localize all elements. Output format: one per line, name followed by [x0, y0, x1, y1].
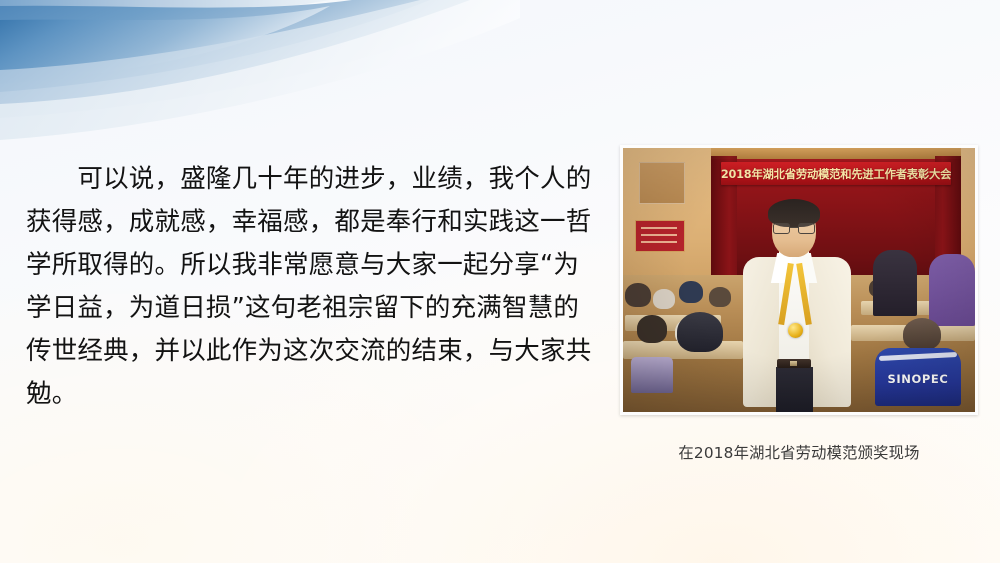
award-ceremony-photograph: 2018年湖北省劳动模范和先进工作者表彰大会 — [623, 148, 975, 412]
stage-valance — [711, 148, 961, 159]
body-paragraph: 可以说，盛隆几十年的进步，业绩，我个人的 获得感，成就感，幸福感，都是奉行和实践… — [26, 158, 594, 416]
ceremony-banner-text: 2018年湖北省劳动模范和先进工作者表彰大会 — [721, 166, 951, 182]
trousers — [776, 367, 813, 412]
belt-buckle — [790, 361, 797, 366]
gold-medal — [788, 323, 803, 338]
audience-head — [679, 281, 703, 303]
paragraph-line: 获得感，成就感，幸福感，都是奉行和实践这一哲 — [26, 201, 594, 244]
photo-block: 2018年湖北省劳动模范和先进工作者表彰大会 — [620, 145, 978, 415]
audience-head — [637, 315, 667, 343]
photo-caption: 在2018年湖北省劳动模范颁奖现场 — [620, 441, 978, 463]
attendee-back-head — [903, 318, 941, 350]
wall-sign — [635, 220, 685, 252]
sinopec-jacket: SINOPEC — [875, 348, 961, 406]
audience-head — [625, 283, 651, 307]
blue-ribbon-wave-icon — [0, 0, 520, 160]
paragraph-line: 传世经典，并以此作为这次交流的结束，与大家共 — [26, 330, 594, 373]
audience-head — [709, 287, 731, 307]
paragraph-line: 学日益，为道日损”这句老祖宗留下的充满智慧的 — [26, 287, 594, 330]
paragraph-line: 勉。 — [26, 373, 594, 416]
ceremony-banner: 2018年湖北省劳动模范和先进工作者表彰大会 — [721, 162, 951, 185]
sinopec-logo-text: SINOPEC — [875, 372, 961, 386]
audience-chair — [631, 357, 673, 393]
wall-panel — [639, 162, 685, 204]
attendee-purple-shirt — [929, 254, 975, 326]
slide-canvas: 可以说，盛隆几十年的进步，业绩，我个人的 获得感，成就感，幸福感，都是奉行和实践… — [0, 0, 1000, 563]
eyeglasses-icon — [773, 223, 815, 234]
sinopec-stripe — [879, 352, 957, 361]
paragraph-line: 学所取得的。所以我非常愿意与大家一起分享“为 — [26, 244, 594, 287]
photo-frame: 2018年湖北省劳动模范和先进工作者表彰大会 — [620, 145, 978, 415]
paragraph-line: 可以说，盛隆几十年的进步，业绩，我个人的 — [26, 158, 594, 201]
audience-head — [653, 289, 675, 309]
attendee-back-head — [677, 312, 723, 352]
award-recipient — [741, 201, 853, 412]
attendee-dark-jacket — [873, 250, 917, 316]
